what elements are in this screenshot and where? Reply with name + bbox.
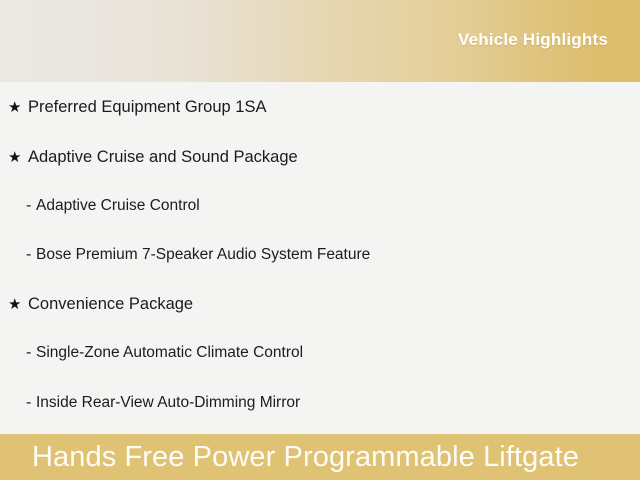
list-item-label: Bose Premium 7-Speaker Audio System Feat… — [36, 247, 370, 263]
dash-bullet-icon: - — [26, 395, 36, 411]
vehicle-highlights-slide: Vehicle Highlights ★ Preferred Equipment… — [0, 0, 640, 480]
list-item: - Adaptive Cruise Control — [0, 191, 640, 221]
star-bullet-icon: ★ — [8, 100, 28, 115]
list-item: ★ Preferred Equipment Group 1SA — [0, 92, 640, 122]
list-item-label: Preferred Equipment Group 1SA — [28, 99, 266, 116]
dash-bullet-icon: - — [26, 198, 36, 214]
list-item: - Single-Zone Automatic Climate Control — [0, 338, 640, 368]
list-item: ★ Convenience Package — [0, 289, 640, 319]
dash-bullet-icon: - — [26, 345, 36, 361]
list-item-label: Single-Zone Automatic Climate Control — [36, 345, 303, 361]
list-item-label: Inside Rear-View Auto-Dimming Mirror — [36, 395, 300, 411]
footer-banner: Hands Free Power Programmable Liftgate — [0, 434, 640, 480]
highlights-list: ★ Preferred Equipment Group 1SA ★ Adapti… — [0, 82, 640, 434]
list-item-label: Adaptive Cruise Control — [36, 198, 200, 214]
list-item-label: Adaptive Cruise and Sound Package — [28, 149, 298, 166]
page-title: Vehicle Highlights — [458, 30, 608, 50]
list-item: - Bose Premium 7-Speaker Audio System Fe… — [0, 240, 640, 270]
star-bullet-icon: ★ — [8, 150, 28, 165]
list-item: ★ Adaptive Cruise and Sound Package — [0, 142, 640, 172]
list-item-label: Convenience Package — [28, 296, 193, 313]
star-bullet-icon: ★ — [8, 297, 28, 312]
footer-caption: Hands Free Power Programmable Liftgate — [32, 443, 579, 472]
header-banner: Vehicle Highlights — [0, 0, 640, 82]
dash-bullet-icon: - — [26, 247, 36, 263]
list-item: - Inside Rear-View Auto-Dimming Mirror — [0, 388, 640, 418]
